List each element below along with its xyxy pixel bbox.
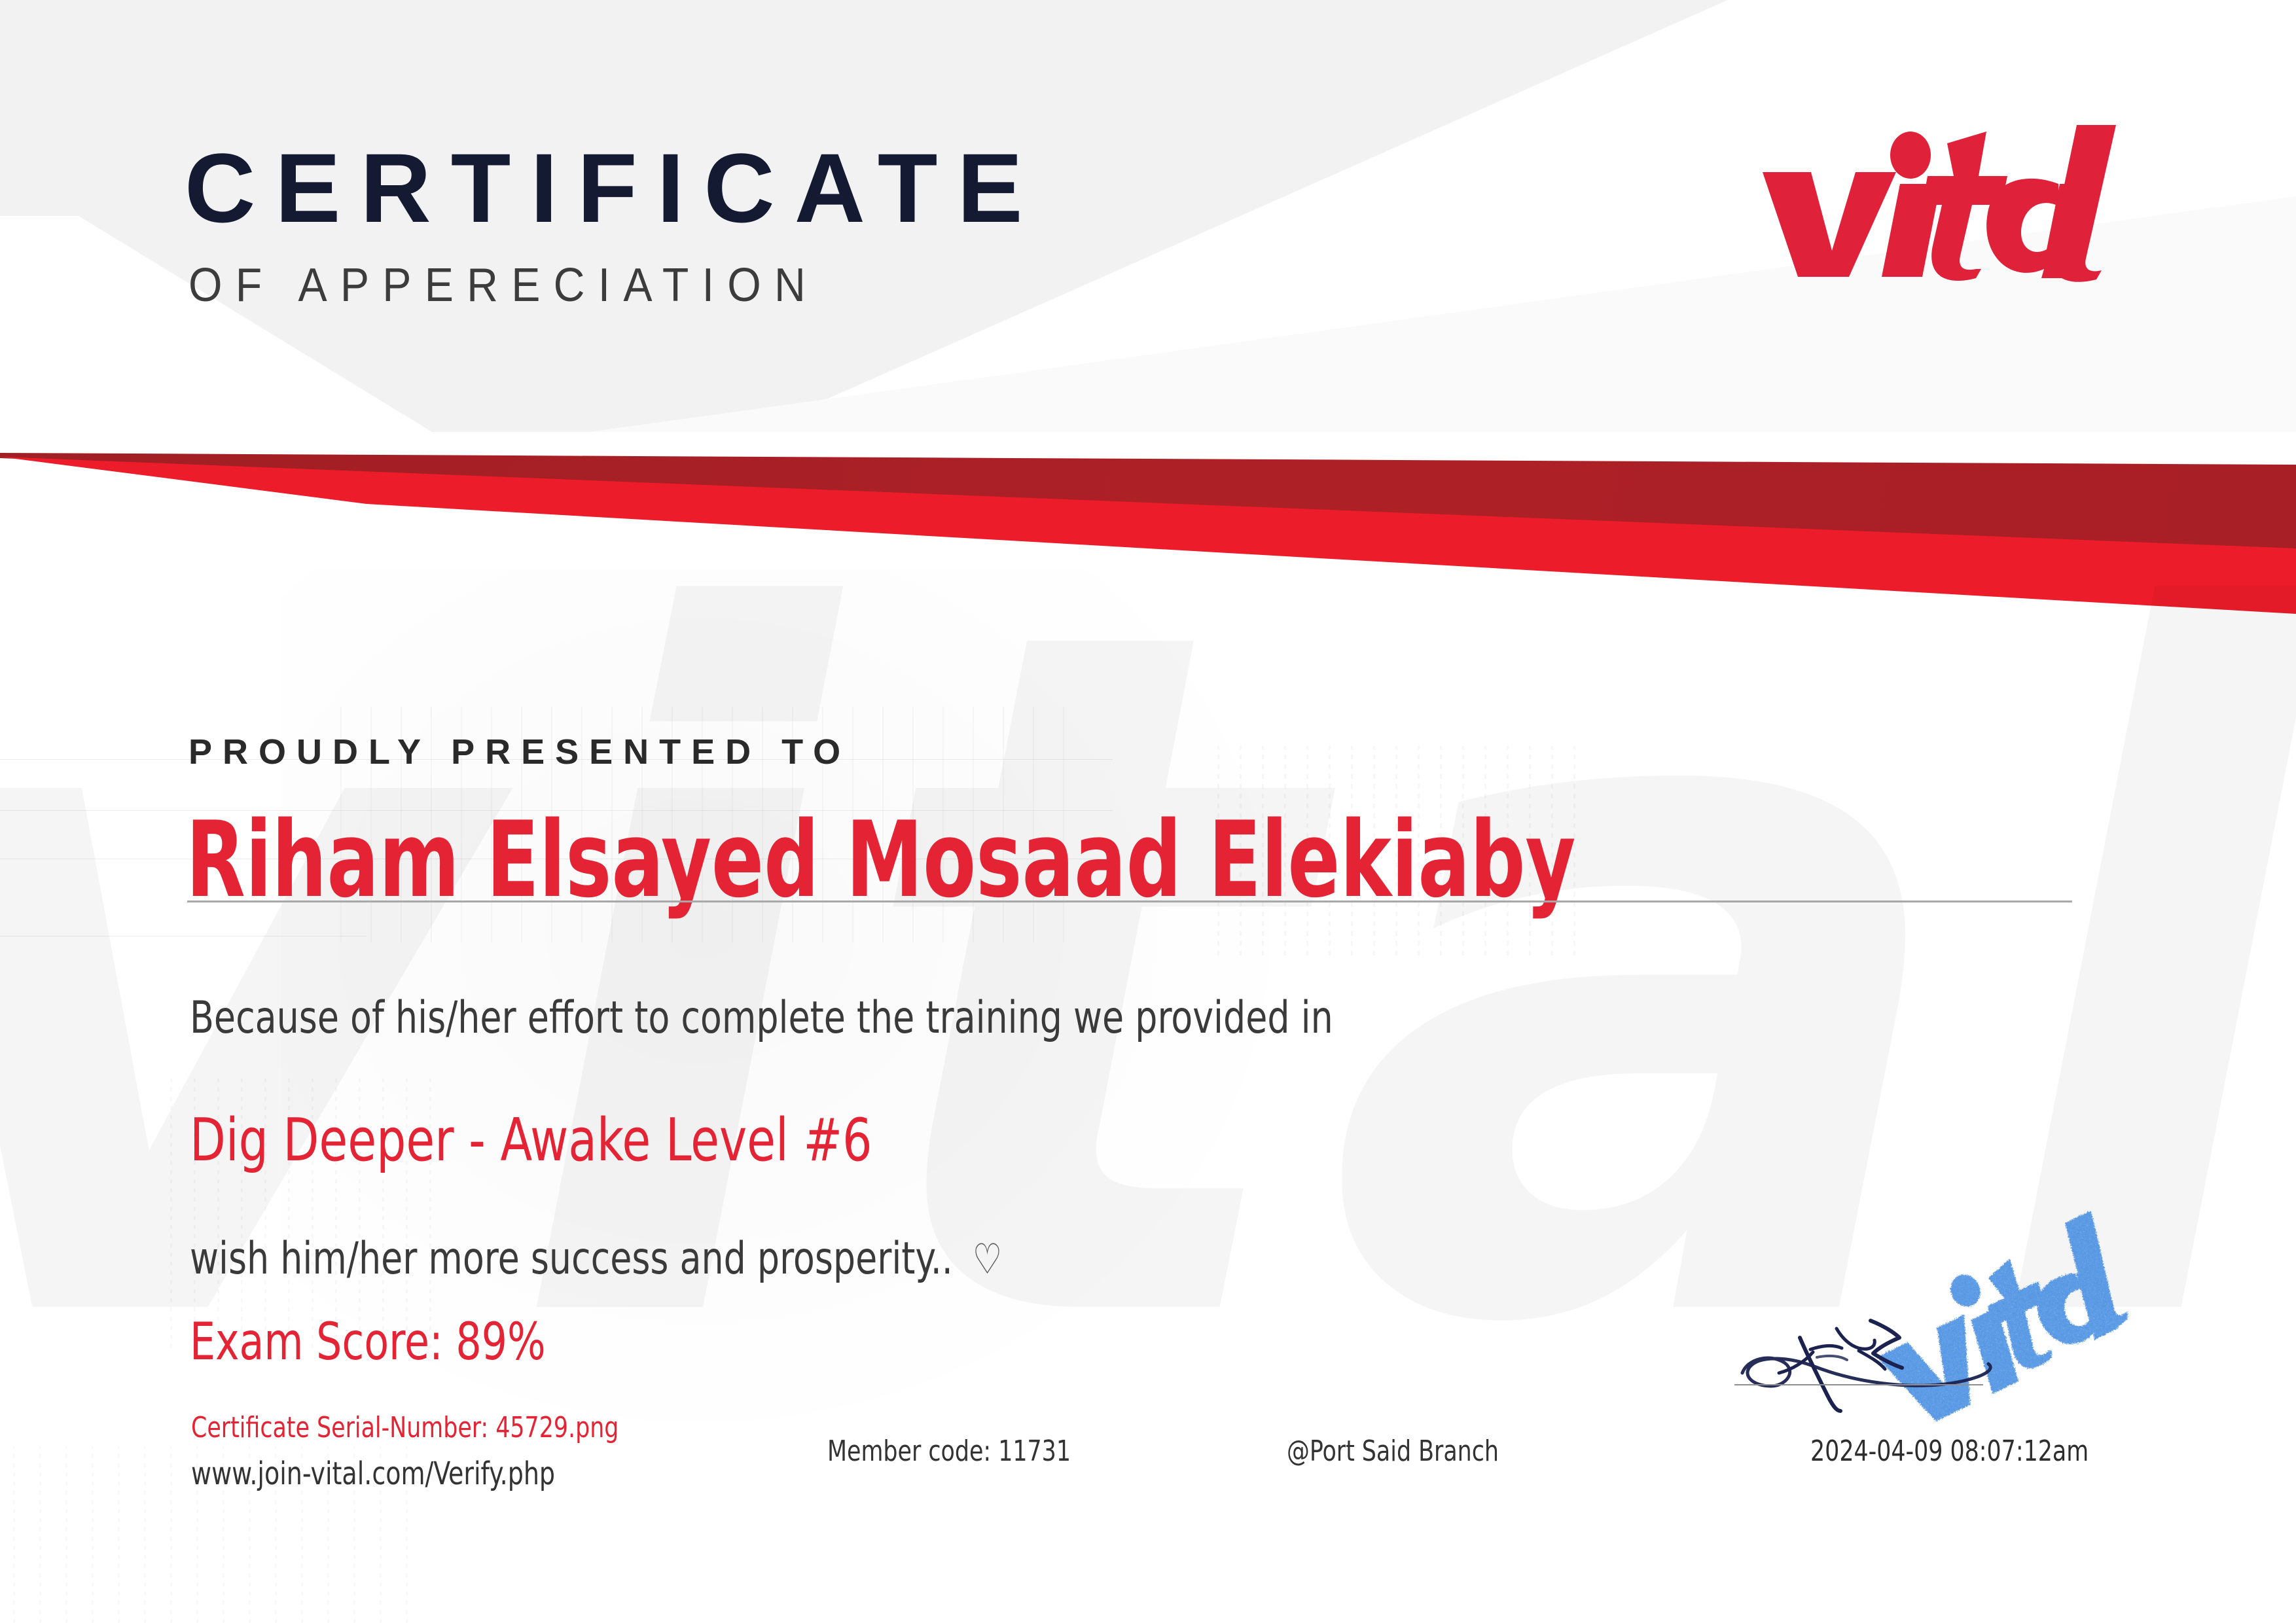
heart-icon: ♡ [973, 1239, 1002, 1281]
member-code: Member code: 11731 [827, 1437, 1071, 1466]
presented-to-label: PROUDLY PRESENTED TO [188, 734, 851, 770]
exam-score: Exam Score: 89% [190, 1317, 546, 1368]
page-title: CERTIFICATE [185, 139, 1043, 237]
vital-logo [1751, 121, 2117, 285]
verify-url[interactable]: www.join-vital.com/Verify.php [191, 1458, 555, 1489]
certificate-page: vital CERTIFICATE OF APPERECIATION [0, 0, 2296, 1623]
course-name: Dig Deeper - Awake Level #6 [190, 1111, 872, 1170]
certificate-serial-number: Certificate Serial-Number: 45729.png [191, 1414, 619, 1442]
recipient-underline [187, 901, 2072, 902]
reason-line: Because of his/her effort to complete th… [190, 996, 1333, 1041]
faint-rule-4 [0, 936, 367, 936]
red-banner [0, 406, 2296, 622]
page-subtitle: OF APPERECIATION [188, 262, 819, 309]
wish-line-text: wish him/her more success and prosperity… [190, 1233, 953, 1285]
issue-timestamp: 2024-04-09 08:07:12am [1810, 1437, 2089, 1466]
branch-name: @Port Said Branch [1287, 1437, 1499, 1466]
wish-line-wrapper: wish him/her more success and prosperity… [190, 1237, 1002, 1281]
vital-ink-stamp [1702, 1198, 2199, 1472]
